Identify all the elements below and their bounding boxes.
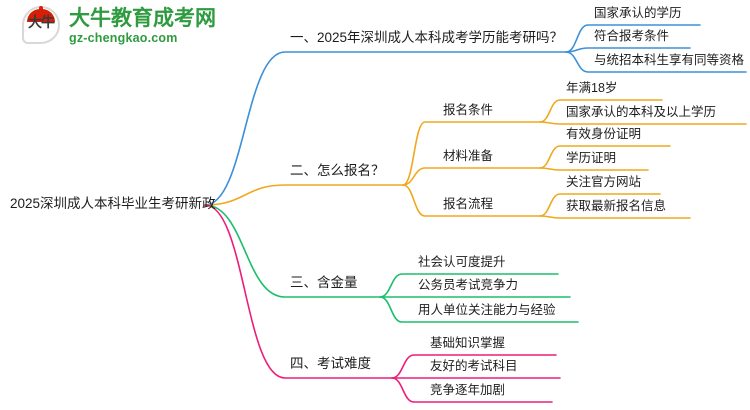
mindmap-leaf-label-2-2-2: 学历证明 bbox=[566, 147, 616, 166]
mindmap-node-label-1-2: 符合报考条件 bbox=[594, 25, 669, 44]
logo-title: 大牛教育成考网 bbox=[69, 8, 216, 29]
mindmap-node-label-4-2: 友好的考试科目 bbox=[430, 355, 518, 374]
logo-text-block: 大牛教育成考网 gz-chengkao.com bbox=[69, 8, 216, 45]
logo-mark-text: 大牛 bbox=[22, 15, 60, 29]
mindmap-node-label-1-3: 与统招本科生享有同等资格 bbox=[594, 49, 744, 68]
mindmap-leaf-label-2-3-2: 获取最新报名信息 bbox=[566, 195, 666, 214]
site-logo: 大牛 大牛教育成考网 gz-chengkao.com bbox=[22, 6, 216, 46]
mindmap-branch-label-4: 四、考试难度 bbox=[290, 352, 371, 372]
mindmap-branch-label-1: 一、2025年深圳成人本科成考学历能考研吗？ bbox=[290, 26, 563, 46]
logo-mark-icon: 大牛 bbox=[22, 6, 62, 46]
mindmap-node-label-4-3: 竞争逐年加剧 bbox=[430, 379, 505, 398]
mindmap-leaf-label-2-2-1: 有效身份证明 bbox=[566, 123, 641, 142]
mindmap-node-label-3-2: 公务员考试竞争力 bbox=[418, 274, 518, 293]
mindmap-node-label-2-2: 材料准备 bbox=[443, 145, 493, 164]
mindmap-leaf-label-2-1-2: 国家承认的本科及以上学历 bbox=[566, 101, 716, 120]
mindmap-canvas: 大牛 大牛教育成考网 gz-chengkao.com 2025深圳成人本科毕业生… bbox=[0, 0, 750, 410]
mindmap-branch-label-2: 二、怎么报名？ bbox=[290, 159, 385, 179]
mindmap-leaf-label-2-3-1: 关注官方网站 bbox=[566, 171, 641, 190]
logo-subtitle: gz-chengkao.com bbox=[69, 32, 216, 45]
mindmap-node-label-3-3: 用人单位关注能力与经验 bbox=[418, 299, 556, 318]
logo-cap-stem-shape bbox=[39, 6, 43, 11]
mindmap-leaf-label-2-1-1: 年满18岁 bbox=[566, 77, 617, 96]
mindmap-node-label-3-1: 社会认可度提升 bbox=[418, 251, 506, 270]
mindmap-node-label-4-1: 基础知识掌握 bbox=[430, 332, 505, 351]
mindmap-node-label-2-3: 报名流程 bbox=[443, 193, 493, 212]
mindmap-node-label-2-1: 报名条件 bbox=[443, 99, 493, 118]
mindmap-branch-label-3: 三、含金量 bbox=[290, 271, 358, 291]
mindmap-node-label-1-1: 国家承认的学历 bbox=[594, 2, 682, 21]
mindmap-root-label: 2025深圳成人本科毕业生考研新政 bbox=[10, 192, 216, 212]
